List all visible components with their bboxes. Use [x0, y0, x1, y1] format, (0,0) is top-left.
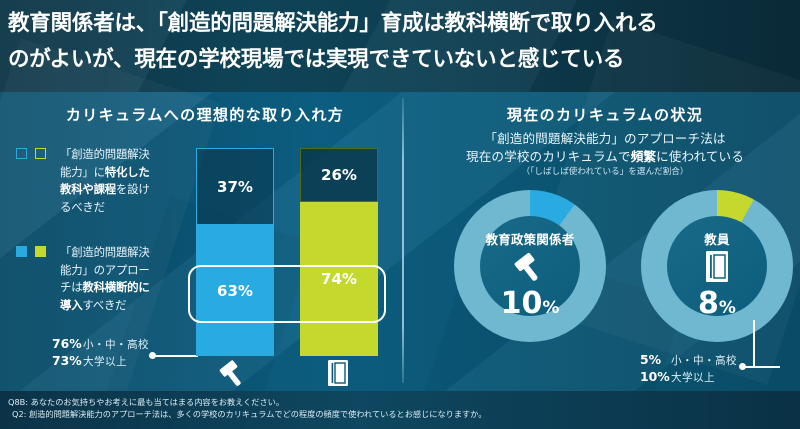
right-subtitle-post: に使われている — [656, 149, 744, 164]
legend-swatch-green-outline — [35, 148, 46, 159]
right-subtitle-line-1: 「創造的問題解決能力」のアプローチ法は — [415, 128, 795, 147]
legend-swatch-green-filled — [35, 246, 46, 257]
right-leader-vertical — [753, 320, 755, 368]
legend-swatch-blue-outline — [16, 148, 27, 159]
left-leader-horizontal — [152, 355, 198, 357]
legend-item-specialized[interactable]: 「創造的問題解決 能力」に特化した 教科や課程を設け るべきだ — [16, 146, 191, 216]
footer-bar: Q8B: あなたのお気持ちやお考えに最も当てはまる内容をお教えください。 Q2:… — [0, 391, 800, 429]
legend-b-bold-2: 導入 — [60, 298, 82, 312]
right-stat-value-2: 10% — [640, 369, 671, 385]
left-leader-dot — [149, 352, 156, 359]
left-stat-row-1: 76%小・中・高校 — [52, 336, 149, 353]
legend-a-bold-1: 特化した — [105, 165, 150, 179]
book-icon-bar-svg — [322, 357, 354, 389]
title-line-1: 教育関係者は、「創造的問題解決能力」育成は教科横断で取り入れる — [8, 6, 792, 41]
gavel-icon-donut — [454, 250, 606, 288]
right-stat-label-2: 大学以上 — [671, 372, 715, 384]
legend-item-crosscurricular[interactable]: 「創造的問題解決 能力」のアプロー チは教科横断的に 導入すべきだ — [16, 244, 191, 314]
legend-swatches-filled — [16, 246, 58, 260]
legend-b-text-3: チは — [60, 280, 82, 294]
book-icon-bar — [322, 357, 354, 389]
donut-teachers-number: 8 — [698, 286, 719, 321]
infographic-page: 教育関係者は、「創造的問題解決能力」育成は教科横断で取り入れる のがよいが、現在… — [0, 0, 800, 429]
legend-a-text-1: 「創造的問題解決 — [60, 147, 150, 161]
footer-question-2: Q2: 創造的問題解決能力のアプローチ法は、多くの学校のカリキュラムでどの程度の… — [12, 408, 486, 420]
title-line-2: のがよいが、現在の学校現場では実現できていないと感じている — [8, 42, 792, 77]
legend-a-bold-2: 教科や課程 — [60, 182, 116, 196]
legend-swatches-outline — [16, 148, 58, 162]
donut-teachers-value: 8% — [641, 286, 793, 321]
right-stat-row-1: 5%小・中・高校 — [640, 352, 737, 369]
left-stat-label-2: 大学以上 — [83, 356, 127, 368]
left-stat-row-2: 73%大学以上 — [52, 353, 149, 370]
right-subtitle-pre: 現在の学校のカリキュラムで — [466, 149, 631, 164]
right-stat-label-1: 小・中・高校 — [671, 355, 737, 367]
title-banner: 教育関係者は、「創造的問題解決能力」育成は教科横断で取り入れる のがよいが、現在… — [0, 0, 800, 92]
gavel-icon-bar — [216, 358, 254, 388]
legend-b-text-2: 能力」のアプロー — [60, 263, 150, 277]
legend-a-text-3: を設け — [116, 182, 150, 196]
donut-policymakers-percent: % — [542, 298, 559, 318]
donut-teachers-label: 教員 — [641, 230, 793, 248]
donut-teachers[interactable]: 教員 8% — [641, 190, 793, 342]
right-leader-horizontal — [742, 366, 780, 368]
right-stat-row-2: 10%大学以上 — [640, 369, 737, 386]
donut-policymakers-label: 教育政策関係者 — [454, 230, 606, 248]
bar-label-37: 37% — [217, 178, 253, 196]
gavel-icon-donut-svg — [510, 250, 550, 284]
donut-policymakers[interactable]: 教育政策関係者 10% — [454, 190, 606, 342]
left-stats: 76%小・中・高校 73%大学以上 — [52, 336, 149, 370]
right-stat-value-1: 5% — [640, 352, 671, 368]
right-subtitle-bold: 頻繁 — [631, 149, 656, 164]
right-leader-dot — [739, 363, 746, 370]
legend-a-text-4: るべきだ — [60, 200, 105, 214]
bar-segment-specialized-blue: 37% — [196, 148, 274, 225]
highlight-bracket — [188, 265, 386, 323]
left-stat-label-1: 小・中・高校 — [83, 339, 149, 351]
right-panel-heading: 現在のカリキュラムの状況 — [420, 104, 790, 125]
book-icon-donut — [641, 248, 793, 290]
legend-b-bold-1: 教科横断的に — [82, 280, 149, 294]
donut-teachers-percent: % — [719, 298, 736, 318]
bar-policymakers[interactable]: 37% 63% — [196, 148, 274, 356]
right-stats: 5%小・中・高校 10%大学以上 — [640, 352, 737, 386]
legend-b-text-4: すべきだ — [82, 298, 126, 312]
bar-label-26: 26% — [321, 166, 357, 184]
book-icon-donut-svg — [699, 248, 735, 286]
right-subtitle-line-2: 現在の学校のカリキュラムで頻繁に使われている — [415, 146, 795, 165]
legend-text-specialized: 「創造的問題解決 能力」に特化した 教科や課程を設け るべきだ — [60, 146, 191, 216]
footer-question-1: Q8B: あなたのお気持ちやお考えに最も当てはまる内容をお教えください。 — [8, 396, 284, 408]
left-stat-value-1: 76% — [52, 336, 83, 352]
legend-b-text-1: 「創造的問題解決 — [60, 245, 150, 259]
legend-swatch-blue-filled — [16, 246, 27, 257]
bar-segment-specialized-green: 26% — [300, 148, 378, 202]
right-panel-note: （「しばしば使われている」を選んだ割合） — [415, 165, 795, 177]
left-panel-heading: カリキュラムへの理想的な取り入れ方 — [30, 104, 380, 125]
legend-text-crosscurricular: 「創造的問題解決 能力」のアプロー チは教科横断的に 導入すべきだ — [60, 244, 191, 314]
legend-a-text-2: 能力」に — [60, 165, 105, 179]
bar-teachers[interactable]: 26% 74% — [300, 148, 378, 356]
left-stat-value-2: 73% — [52, 353, 83, 369]
gavel-icon-bar-svg — [216, 358, 254, 388]
panel-divider — [402, 98, 404, 383]
background-facet-1 — [0, 38, 220, 429]
donut-policymakers-number: 10 — [501, 286, 543, 321]
donut-policymakers-value: 10% — [454, 286, 606, 321]
